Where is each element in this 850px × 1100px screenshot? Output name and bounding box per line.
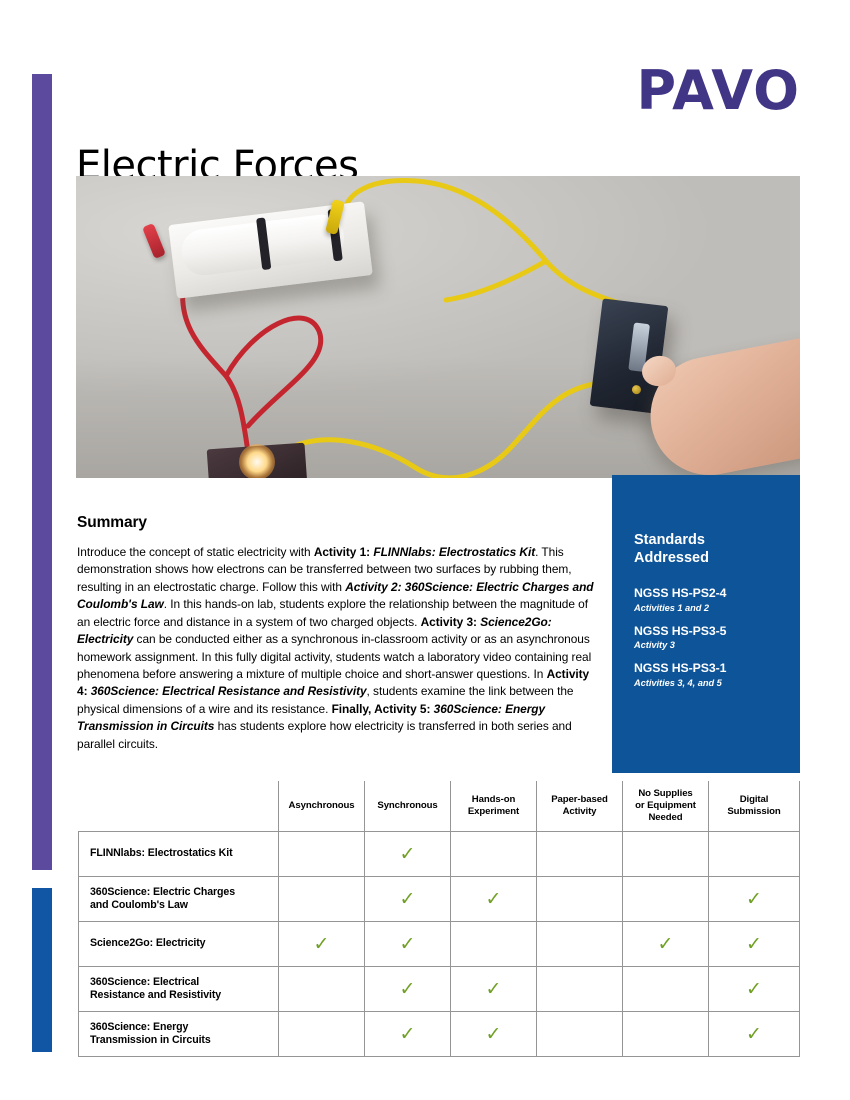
checkmark-cell: ✓ bbox=[279, 922, 365, 967]
checkmark-cell: ✓ bbox=[365, 832, 451, 877]
pavo-logo: PAVO bbox=[637, 64, 801, 118]
standards-activities: Activities 3, 4, and 5 bbox=[634, 678, 800, 688]
activity-matrix-table: AsynchronousSynchronousHands-on Experime… bbox=[78, 781, 800, 1057]
standards-code: NGSS HS-PS3-1 bbox=[634, 661, 800, 676]
table-header: AsynchronousSynchronousHands-on Experime… bbox=[79, 781, 800, 832]
empty-cell: ✓ bbox=[279, 877, 365, 922]
table-row: Science2Go: Electricity✓✓✓✓✓✓ bbox=[79, 922, 800, 967]
empty-cell: ✓ bbox=[451, 922, 537, 967]
table-column-header-0: Asynchronous bbox=[279, 781, 365, 832]
activity-name: 360Science: Electrical Resistance and Re… bbox=[79, 967, 279, 1012]
empty-cell: ✓ bbox=[451, 832, 537, 877]
summary-section: Summary Introduce the concept of static … bbox=[77, 514, 597, 765]
table-column-header-2: Hands-on Experiment bbox=[451, 781, 537, 832]
summary-heading: Summary bbox=[77, 514, 597, 532]
table-header-row: AsynchronousSynchronousHands-on Experime… bbox=[79, 781, 800, 832]
check-icon: ✓ bbox=[486, 980, 502, 999]
standards-activities: Activity 3 bbox=[634, 640, 800, 650]
table-row: 360Science: Electric Charges and Coulomb… bbox=[79, 877, 800, 922]
checkmark-cell: ✓ bbox=[365, 1012, 451, 1057]
switch-screw bbox=[631, 385, 641, 395]
empty-cell: ✓ bbox=[537, 832, 623, 877]
check-icon: ✓ bbox=[486, 1025, 502, 1044]
empty-cell: ✓ bbox=[279, 832, 365, 877]
left-rail-purple bbox=[32, 74, 52, 870]
standards-item: NGSS HS-PS3-5 Activity 3 bbox=[634, 624, 800, 651]
checkmark-cell: ✓ bbox=[623, 922, 709, 967]
empty-cell: ✓ bbox=[279, 1012, 365, 1057]
checkmark-cell: ✓ bbox=[709, 922, 800, 967]
empty-cell: ✓ bbox=[537, 877, 623, 922]
standards-item: NGSS HS-PS3-1 Activities 3, 4, and 5 bbox=[634, 661, 800, 688]
table-column-header-4: No Supplies or Equipment Needed bbox=[623, 781, 709, 832]
summary-paragraph: Introduce the concept of static electric… bbox=[77, 544, 597, 753]
standards-addressed-box: Standards Addressed NGSS HS-PS2-4 Activi… bbox=[612, 475, 800, 773]
activity-name: 360Science: Electric Charges and Coulomb… bbox=[79, 877, 279, 922]
checkmark-cell: ✓ bbox=[365, 922, 451, 967]
check-icon: ✓ bbox=[400, 980, 416, 999]
table-column-header-3: Paper-based Activity bbox=[537, 781, 623, 832]
checkmark-cell: ✓ bbox=[709, 877, 800, 922]
empty-cell: ✓ bbox=[623, 967, 709, 1012]
hero-photo bbox=[76, 176, 800, 478]
empty-cell: ✓ bbox=[279, 967, 365, 1012]
empty-cell: ✓ bbox=[537, 922, 623, 967]
check-icon: ✓ bbox=[400, 890, 416, 909]
standards-code: NGSS HS-PS2-4 bbox=[634, 586, 800, 601]
empty-cell: ✓ bbox=[537, 967, 623, 1012]
check-icon: ✓ bbox=[746, 890, 762, 909]
checkmark-cell: ✓ bbox=[365, 967, 451, 1012]
standards-item: NGSS HS-PS2-4 Activities 1 and 2 bbox=[634, 586, 800, 613]
activity-name: Science2Go: Electricity bbox=[79, 922, 279, 967]
table-column-header-1: Synchronous bbox=[365, 781, 451, 832]
standards-code: NGSS HS-PS3-5 bbox=[634, 624, 800, 639]
standards-activities: Activities 1 and 2 bbox=[634, 603, 800, 613]
activity-name: 360Science: Energy Transmission in Circu… bbox=[79, 1012, 279, 1057]
check-icon: ✓ bbox=[746, 1025, 762, 1044]
empty-cell: ✓ bbox=[623, 877, 709, 922]
check-icon: ✓ bbox=[400, 1025, 416, 1044]
check-icon: ✓ bbox=[400, 935, 416, 954]
check-icon: ✓ bbox=[314, 935, 330, 954]
check-icon: ✓ bbox=[746, 935, 762, 954]
table-corner-cell bbox=[79, 781, 279, 832]
check-icon: ✓ bbox=[400, 845, 416, 864]
left-rail-blue bbox=[32, 888, 52, 1052]
table-row: 360Science: Electrical Resistance and Re… bbox=[79, 967, 800, 1012]
check-icon: ✓ bbox=[658, 935, 674, 954]
checkmark-cell: ✓ bbox=[451, 967, 537, 1012]
checkmark-cell: ✓ bbox=[709, 967, 800, 1012]
checkmark-cell: ✓ bbox=[451, 877, 537, 922]
checkmark-cell: ✓ bbox=[365, 877, 451, 922]
empty-cell: ✓ bbox=[623, 832, 709, 877]
table-column-header-5: Digital Submission bbox=[709, 781, 800, 832]
table-body: FLINNlabs: Electrostatics Kit✓✓✓✓✓✓360Sc… bbox=[79, 832, 800, 1057]
check-icon: ✓ bbox=[486, 890, 502, 909]
table-row: 360Science: Energy Transmission in Circu… bbox=[79, 1012, 800, 1057]
table-row: FLINNlabs: Electrostatics Kit✓✓✓✓✓✓ bbox=[79, 832, 800, 877]
checkmark-cell: ✓ bbox=[709, 1012, 800, 1057]
empty-cell: ✓ bbox=[709, 832, 800, 877]
empty-cell: ✓ bbox=[537, 1012, 623, 1057]
check-icon: ✓ bbox=[746, 980, 762, 999]
standards-list: NGSS HS-PS2-4 Activities 1 and 2 NGSS HS… bbox=[634, 586, 800, 688]
activity-name: FLINNlabs: Electrostatics Kit bbox=[79, 832, 279, 877]
lit-bulb bbox=[239, 444, 275, 478]
standards-title: Standards Addressed bbox=[634, 532, 800, 568]
checkmark-cell: ✓ bbox=[451, 1012, 537, 1057]
empty-cell: ✓ bbox=[623, 1012, 709, 1057]
